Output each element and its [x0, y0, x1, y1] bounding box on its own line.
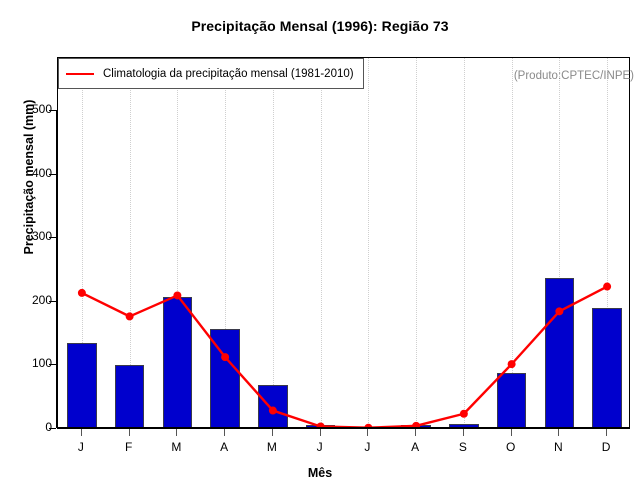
x-tick-2	[176, 429, 177, 436]
x-tick-9	[511, 429, 512, 436]
climatology-point-8	[460, 410, 468, 418]
x-tick-label-4: M	[257, 440, 287, 454]
x-tick-label-2: M	[161, 440, 191, 454]
x-tick-10	[558, 429, 559, 436]
x-tick-label-5: J	[305, 440, 335, 454]
climatology-point-0	[78, 289, 86, 297]
x-axis-title: Mês	[0, 466, 640, 480]
climatology-point-2	[173, 291, 181, 299]
x-tick-label-7: A	[400, 440, 430, 454]
climatology-point-9	[508, 360, 516, 368]
y-tick-label-300: 300	[6, 229, 52, 243]
legend-line-swatch	[66, 73, 94, 75]
climatology-point-10	[555, 307, 563, 315]
x-tick-4	[272, 429, 273, 436]
y-axis-line	[56, 110, 57, 428]
y-tick-label-0: 0	[6, 420, 52, 434]
climatology-point-3	[221, 353, 229, 361]
x-tick-label-6: J	[352, 440, 382, 454]
y-tick-label-400: 400	[6, 166, 52, 180]
x-axis-line	[57, 428, 630, 429]
x-tick-label-11: D	[591, 440, 621, 454]
plot-area	[57, 57, 630, 428]
legend-label: Climatologia da precipitação mensal (198…	[103, 68, 354, 80]
x-tick-8	[463, 429, 464, 436]
x-tick-7	[415, 429, 416, 436]
x-tick-label-9: O	[496, 440, 526, 454]
producer-credit: (Produto:CPTEC/INPE)	[514, 70, 634, 82]
legend: Climatologia da precipitação mensal (198…	[58, 58, 364, 89]
x-tick-label-1: F	[114, 440, 144, 454]
y-tick-label-200: 200	[6, 293, 52, 307]
x-tick-label-0: J	[66, 440, 96, 454]
x-tick-label-3: A	[209, 440, 239, 454]
y-tick-label-100: 100	[6, 356, 52, 370]
x-tick-label-8: S	[448, 440, 478, 454]
x-tick-label-10: N	[543, 440, 573, 454]
x-tick-1	[129, 429, 130, 436]
x-tick-3	[224, 429, 225, 436]
x-tick-11	[606, 429, 607, 436]
climatology-point-7	[412, 422, 420, 427]
climatology-point-4	[269, 407, 277, 415]
climatology-point-5	[317, 422, 325, 427]
chart-title: Precipitação Mensal (1996): Região 73	[0, 18, 640, 34]
climatology-point-1	[126, 312, 134, 320]
plot-inner	[58, 58, 629, 427]
climatology-line	[82, 287, 607, 427]
climatology-point-11	[603, 283, 611, 291]
x-tick-0	[81, 429, 82, 436]
x-tick-5	[320, 429, 321, 436]
y-tick-label-500: 500	[6, 102, 52, 116]
precipitation-chart: Precipitação Mensal (1996): Região 73 Pr…	[0, 0, 640, 500]
climatology-line-series	[58, 58, 629, 427]
climatology-point-6	[364, 424, 372, 427]
x-tick-6	[367, 429, 368, 436]
